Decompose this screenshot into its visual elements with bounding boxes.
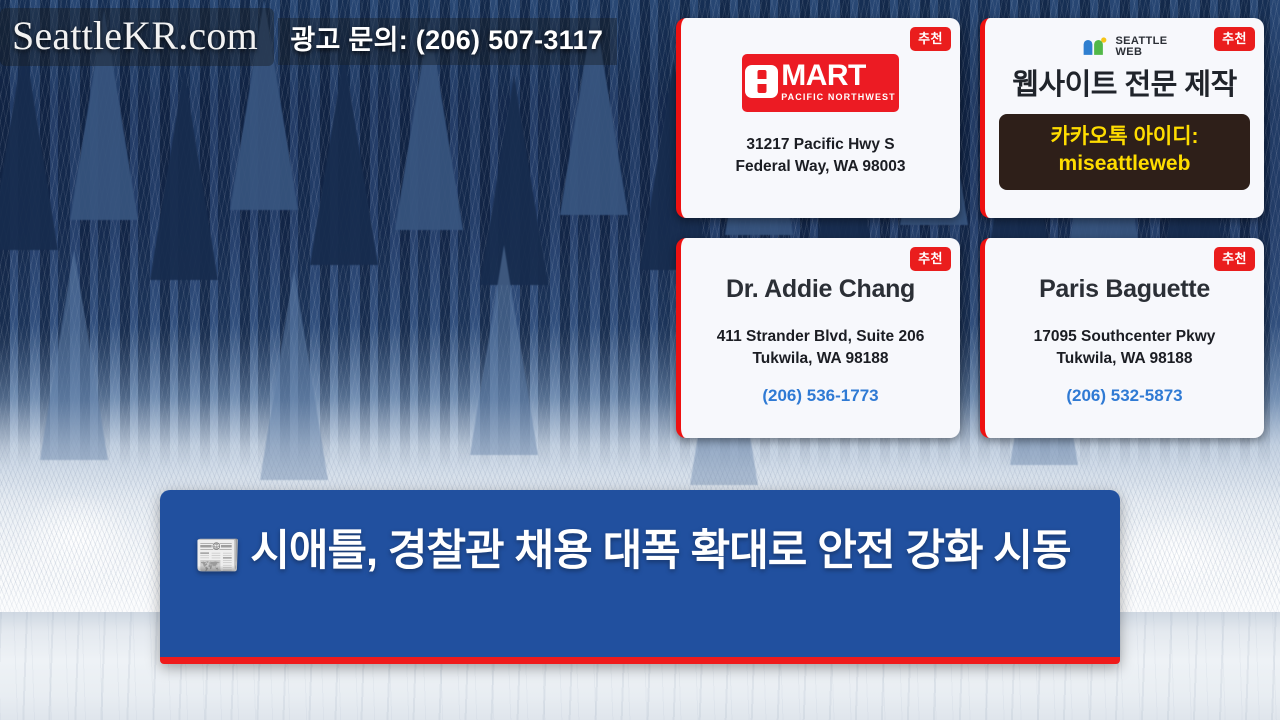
kakao-id-value: miseattleweb — [1005, 151, 1244, 178]
address-line-1: 411 Strander Blvd, Suite 206 — [717, 326, 925, 348]
hmart-logo: MART PACIFIC NORTHWEST — [742, 54, 899, 112]
address-line-1: 31217 Pacific Hwy S — [735, 134, 905, 156]
watermark: SeattleKR.com 광고 문의: (206) 507-3117 — [0, 8, 617, 66]
kakao-label: 카카오톡 아이디: — [1005, 124, 1244, 151]
hmart-wordmark: MART PACIFIC NORTHWEST — [781, 62, 896, 102]
ad-card-addie-chang[interactable]: 추천 Dr. Addie Chang 411 Strander Blvd, Su… — [676, 238, 960, 438]
hmart-logo-main: MART — [781, 62, 866, 91]
ad-address: 17095 Southcenter Pkwy Tukwila, WA 98188 — [1034, 326, 1216, 371]
ad-card-paris-baguette[interactable]: 추천 Paris Baguette 17095 Southcenter Pkwy… — [980, 238, 1264, 438]
background-tree — [0, 40, 58, 250]
phone-number[interactable]: (206) 536-1773 — [762, 386, 878, 406]
phone-number[interactable]: (206) 532-5873 — [1066, 386, 1182, 406]
hmart-logo-sub: PACIFIC NORTHWEST — [781, 92, 896, 102]
recommended-badge: 추천 — [1214, 247, 1255, 271]
ad-card-hmart[interactable]: 추천 MART PACIFIC NORTHWEST 31217 Pacific … — [676, 18, 960, 218]
kakao-id-box: 카카오톡 아이디: miseattleweb — [999, 114, 1250, 190]
headline-text: 시애틀, 경찰관 채용 대폭 확대로 안전 강화 시동 — [250, 527, 1070, 575]
ad-card-seattleweb[interactable]: 추천 SEATTLE WEB 웹사이트 전문 제작 카카오톡 아이디: mise… — [980, 18, 1264, 218]
sponsor-ad-grid: 추천 MART PACIFIC NORTHWEST 31217 Pacific … — [676, 18, 1264, 438]
seattleweb-name-line-2: WEB — [1115, 47, 1142, 58]
ad-inquiry-watermark: 광고 문의: (206) 507-3117 — [278, 18, 617, 65]
headline-banner: 📰시애틀, 경찰관 채용 대폭 확대로 안전 강화 시동 — [160, 490, 1120, 664]
address-line-2: Federal Way, WA 98003 — [735, 156, 905, 178]
seattleweb-mark-icon — [1081, 36, 1109, 58]
site-watermark: SeattleKR.com — [0, 8, 274, 66]
address-line-1: 17095 Southcenter Pkwy — [1034, 326, 1216, 348]
video-frame: SeattleKR.com 광고 문의: (206) 507-3117 추천 M… — [0, 0, 1280, 720]
recommended-badge: 추천 — [1214, 27, 1255, 51]
recommended-badge: 추천 — [910, 27, 951, 51]
business-name: Dr. Addie Chang — [726, 276, 915, 304]
seattleweb-wordmark: SEATTLE WEB — [1115, 36, 1167, 58]
background-tree — [310, 55, 378, 265]
recommended-badge: 추천 — [910, 247, 951, 271]
newspaper-icon: 📰 — [194, 535, 240, 577]
headline-text-row: 📰시애틀, 경찰관 채용 대폭 확대로 안전 강화 시동 — [194, 522, 1086, 582]
address-line-2: Tukwila, WA 98188 — [717, 348, 925, 370]
seattleweb-heading: 웹사이트 전문 제작 — [1012, 69, 1237, 102]
seattleweb-logo: SEATTLE WEB — [1081, 36, 1167, 58]
background-tree — [150, 70, 218, 280]
ad-address: 411 Strander Blvd, Suite 206 Tukwila, WA… — [717, 326, 925, 371]
h-letter-mark-icon — [745, 65, 778, 98]
ad-address: 31217 Pacific Hwy S Federal Way, WA 9800… — [735, 134, 905, 179]
business-name: Paris Baguette — [1039, 276, 1210, 304]
address-line-2: Tukwila, WA 98188 — [1034, 348, 1216, 370]
